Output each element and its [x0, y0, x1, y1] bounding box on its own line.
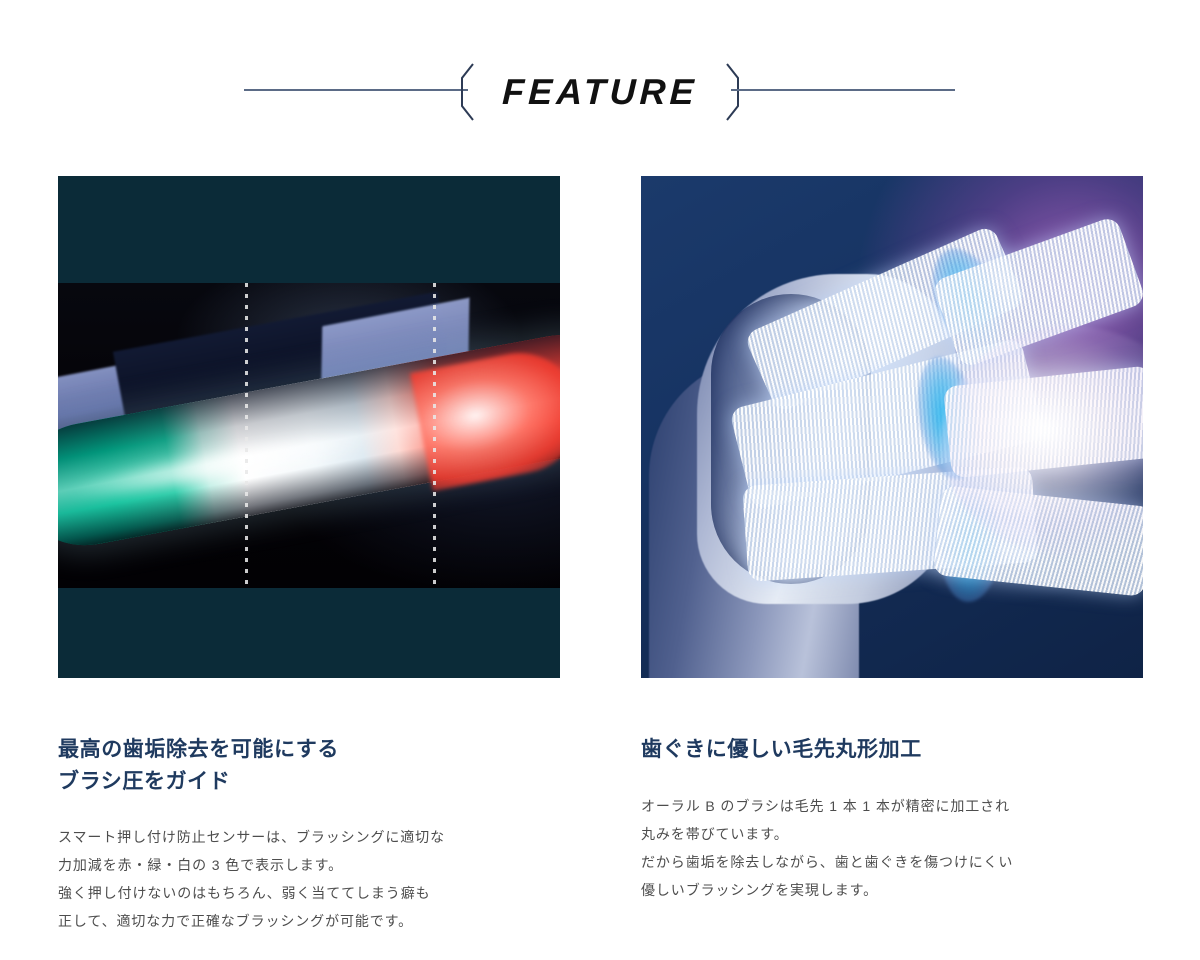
feature-section-page: { "header": { "title": "FEATURE", "rule_…	[0, 0, 1200, 960]
pressure-sensor-photo	[58, 176, 560, 678]
pressure-divider-line-2	[433, 283, 436, 588]
header-rule-right	[731, 89, 955, 91]
pressure-photo-band	[58, 283, 560, 588]
feature-body: オーラル B のブラシは毛先 1 本 1 本が精密に加工され 丸みを帯びています…	[641, 792, 1143, 904]
feature-headline: 最高の歯垢除去を可能にする ブラシ圧をガイド	[58, 734, 560, 797]
pressure-divider-line-1	[245, 283, 248, 588]
bracket-right-icon	[721, 58, 745, 126]
section-header: FEATURE	[0, 58, 1200, 126]
feature-column-bristles: 歯ぐきに優しい毛先丸形加工 オーラル B のブラシは毛先 1 本 1 本が精密に…	[641, 176, 1143, 935]
feature-columns: 最高の歯垢除去を可能にする ブラシ圧をガイド スマート押し付け防止センサーは、ブ…	[58, 176, 1142, 935]
rounded-bristle-photo	[641, 176, 1143, 678]
feature-column-pressure: 最高の歯垢除去を可能にする ブラシ圧をガイド スマート押し付け防止センサーは、ブ…	[58, 176, 560, 935]
feature-headline: 歯ぐきに優しい毛先丸形加工	[641, 734, 1143, 766]
feature-body: スマート押し付け防止センサーは、ブラッシングに適切な 力加減を赤・緑・白の 3 …	[58, 823, 560, 935]
section-title: FEATURE	[0, 58, 1200, 126]
